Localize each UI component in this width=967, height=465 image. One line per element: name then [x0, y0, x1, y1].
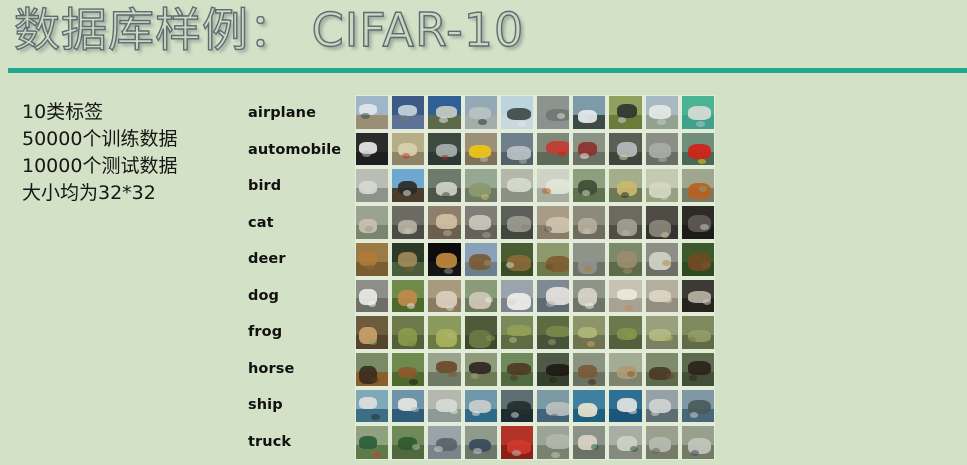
sample-thumbnail-truck-6 — [537, 426, 569, 459]
sample-thumbnail-truck-2 — [392, 426, 424, 459]
sample-thumbnail-airplane-10 — [682, 96, 714, 129]
thumb-detail-speck — [369, 339, 377, 345]
sample-thumbnail-deer-3 — [428, 243, 460, 276]
sample-thumbnail-automobile-3 — [428, 133, 460, 166]
sample-thumbnail-frog-9 — [646, 316, 678, 349]
dataset-info-block: 10类标签 50000个训练数据 10000个测试数据 大小均为32*32 — [22, 99, 232, 207]
thumb-detail-speck — [486, 335, 494, 341]
sample-thumbnail-truck-5 — [501, 426, 533, 459]
sample-thumbnail-ship-3 — [428, 390, 460, 423]
sample-thumbnail-bird-4 — [465, 169, 497, 202]
sample-thumbnail-dog-7 — [573, 280, 605, 313]
sample-thumbnail-dog-1 — [356, 280, 388, 313]
sample-thumbnail-bird-5 — [501, 169, 533, 202]
thumb-detail-speck — [591, 444, 599, 450]
thumb-subject-shape — [617, 289, 637, 300]
sample-thumbnail-horse-7 — [573, 353, 605, 386]
sample-thumbnail-cat-5 — [501, 206, 533, 239]
sample-thumbnail-bird-2 — [392, 169, 424, 202]
thumb-detail-speck — [521, 224, 529, 230]
thumb-detail-speck — [361, 113, 369, 119]
sample-thumbnail-frog-3 — [428, 316, 460, 349]
sample-thumbnail-dog-9 — [646, 280, 678, 313]
thumb-detail-speck — [443, 230, 451, 236]
thumb-subject-shape — [469, 215, 491, 230]
thumb-detail-speck — [373, 452, 381, 458]
class-label-frog: frog — [248, 314, 352, 351]
sample-thumbnail-airplane-8 — [609, 96, 641, 129]
sample-thumbnail-ship-7 — [573, 390, 605, 423]
class-label-deer: deer — [248, 241, 352, 278]
thumb-detail-speck — [402, 153, 410, 159]
sample-thumbnail-dog-4 — [465, 280, 497, 313]
sample-thumbnail-horse-10 — [682, 353, 714, 386]
class-label-ship: ship — [248, 387, 352, 424]
thumb-detail-speck — [509, 337, 517, 343]
sample-thumbnail-horse-8 — [609, 353, 641, 386]
thumb-subject-shape — [546, 326, 570, 337]
sample-thumbnail-ship-10 — [682, 390, 714, 423]
sample-thumbnail-cat-7 — [573, 206, 605, 239]
thumb-detail-speck — [582, 190, 590, 196]
sample-thumbnail-automobile-6 — [537, 133, 569, 166]
sample-thumbnail-ship-9 — [646, 390, 678, 423]
sample-thumbnail-automobile-9 — [646, 133, 678, 166]
thumb-detail-speck — [657, 119, 665, 125]
thumb-detail-speck — [370, 377, 378, 383]
class-label-cat: cat — [248, 205, 352, 242]
thumb-background-lower — [501, 335, 533, 349]
thumb-detail-speck — [478, 119, 486, 125]
sample-thumbnail-deer-10 — [682, 243, 714, 276]
thumb-detail-speck — [506, 262, 514, 268]
thumb-subject-shape — [359, 397, 376, 409]
class-label-column: airplane automobile bird cat deer dog fr… — [248, 95, 352, 460]
class-label-truck: truck — [248, 424, 352, 461]
thumb-subject-shape — [688, 106, 712, 120]
sample-thumbnail-cat-1 — [356, 206, 388, 239]
sample-thumbnail-bird-9 — [646, 169, 678, 202]
sample-thumbnail-frog-2 — [392, 316, 424, 349]
thumb-detail-speck — [625, 305, 633, 311]
sample-thumbnail-airplane-6 — [537, 96, 569, 129]
thumb-detail-speck — [512, 450, 520, 456]
sample-thumbnail-deer-9 — [646, 243, 678, 276]
thumb-detail-speck — [557, 113, 565, 119]
sample-thumbnail-cat-9 — [646, 206, 678, 239]
sample-thumbnail-horse-3 — [428, 353, 460, 386]
thumb-detail-speck — [471, 373, 479, 379]
class-label-dog: dog — [248, 278, 352, 315]
sample-thumbnail-automobile-1 — [356, 133, 388, 166]
sample-thumbnail-frog-7 — [573, 316, 605, 349]
thumb-subject-shape — [507, 325, 531, 336]
sample-thumbnail-frog-5 — [501, 316, 533, 349]
sample-thumbnail-airplane-5 — [501, 96, 533, 129]
thumb-subject-shape — [398, 252, 417, 267]
thumb-detail-speck — [661, 232, 669, 238]
thumb-detail-speck — [558, 151, 566, 157]
sample-thumbnail-bird-3 — [428, 169, 460, 202]
info-line-test-count: 10000个测试数据 — [22, 153, 232, 180]
class-label-automobile: automobile — [248, 132, 352, 169]
sample-thumbnail-airplane-1 — [356, 96, 388, 129]
sample-thumbnail-deer-2 — [392, 243, 424, 276]
sample-thumbnail-truck-8 — [609, 426, 641, 459]
thumb-detail-speck — [473, 448, 481, 454]
sample-thumbnail-airplane-2 — [392, 96, 424, 129]
thumb-background-lower — [465, 372, 497, 386]
thumb-detail-speck — [448, 371, 456, 377]
thumb-detail-speck — [696, 121, 704, 127]
slide-header: 数据库样例： CIFAR-10 — [0, 0, 967, 76]
sample-thumbnail-bird-8 — [609, 169, 641, 202]
thumb-detail-speck — [549, 377, 557, 383]
sample-thumbnail-cat-2 — [392, 206, 424, 239]
sample-thumbnail-frog-8 — [609, 316, 641, 349]
sample-thumbnail-truck-9 — [646, 426, 678, 459]
sample-thumbnail-frog-1 — [356, 316, 388, 349]
thumb-detail-speck — [366, 264, 374, 270]
thumb-subject-shape — [617, 251, 637, 268]
thumb-subject-shape — [688, 361, 712, 375]
sample-thumbnail-frog-4 — [465, 316, 497, 349]
thumb-detail-speck — [627, 371, 635, 377]
thumb-subject-shape — [507, 108, 531, 120]
thumb-subject-shape — [546, 434, 570, 448]
class-label-bird: bird — [248, 168, 352, 205]
sample-thumbnail-ship-4 — [465, 390, 497, 423]
sample-thumbnail-cat-8 — [609, 206, 641, 239]
info-line-train-count: 50000个训练数据 — [22, 126, 232, 153]
sample-thumbnail-horse-1 — [356, 353, 388, 386]
thumb-detail-speck — [701, 262, 709, 268]
sample-thumbnail-deer-1 — [356, 243, 388, 276]
thumb-subject-shape — [436, 106, 457, 118]
thumb-detail-speck — [484, 260, 492, 266]
sample-thumbnail-truck-10 — [682, 426, 714, 459]
sample-thumbnail-truck-1 — [356, 426, 388, 459]
thumb-subject-shape — [546, 364, 570, 376]
sample-thumbnail-bird-6 — [537, 169, 569, 202]
thumb-detail-speck — [405, 266, 413, 272]
thumb-subject-shape — [436, 253, 457, 269]
sample-thumbnail-ship-2 — [392, 390, 424, 423]
thumb-detail-speck — [444, 268, 452, 274]
sample-thumbnail-ship-6 — [537, 390, 569, 423]
sample-thumbnail-dog-6 — [537, 280, 569, 313]
thumb-subject-shape — [469, 145, 491, 158]
thumb-subject-shape — [617, 104, 637, 117]
sample-thumbnail-frog-6 — [537, 316, 569, 349]
sample-thumbnail-deer-7 — [573, 243, 605, 276]
thumb-detail-speck — [409, 379, 417, 385]
thumb-detail-speck — [689, 375, 697, 381]
cifar10-sample-grid — [355, 95, 715, 460]
thumb-detail-speck — [510, 375, 518, 381]
thumb-detail-speck — [700, 224, 708, 230]
sample-thumbnail-deer-8 — [609, 243, 641, 276]
thumb-subject-shape — [469, 107, 491, 119]
sample-thumbnail-bird-7 — [573, 169, 605, 202]
thumb-subject-shape — [649, 105, 671, 119]
sample-thumbnail-horse-4 — [465, 353, 497, 386]
thumb-detail-speck — [550, 414, 558, 420]
sample-thumbnail-automobile-7 — [573, 133, 605, 166]
thumb-detail-speck — [544, 226, 552, 232]
sample-thumbnail-horse-9 — [646, 353, 678, 386]
thumb-detail-speck — [584, 266, 592, 272]
sample-thumbnail-automobile-5 — [501, 133, 533, 166]
thumb-detail-speck — [588, 379, 596, 385]
thumb-background-lower — [392, 409, 424, 423]
thumb-detail-speck — [589, 407, 597, 413]
sample-thumbnail-cat-3 — [428, 206, 460, 239]
sample-thumbnail-horse-5 — [501, 353, 533, 386]
thumb-detail-speck — [587, 341, 595, 347]
thumb-subject-shape — [436, 214, 457, 229]
thumb-subject-shape — [469, 362, 491, 374]
page-title: 数据库样例： CIFAR-10 — [14, 2, 524, 58]
thumb-detail-speck — [628, 409, 636, 415]
thumb-detail-speck — [666, 373, 674, 379]
sample-thumbnail-automobile-8 — [609, 133, 641, 166]
sample-thumbnail-horse-2 — [392, 353, 424, 386]
info-line-image-size: 大小均为32*32 — [22, 180, 232, 207]
info-line-label-count: 10类标签 — [22, 99, 232, 126]
thumb-detail-speck — [518, 121, 526, 127]
class-label-airplane: airplane — [248, 95, 352, 132]
thumb-detail-speck — [482, 232, 490, 238]
thumb-detail-speck — [618, 117, 626, 123]
thumb-subject-shape — [398, 367, 417, 378]
sample-thumbnail-dog-10 — [682, 280, 714, 313]
sample-thumbnail-truck-4 — [465, 426, 497, 459]
sample-thumbnail-truck-7 — [573, 426, 605, 459]
thumb-detail-speck — [551, 452, 559, 458]
sample-thumbnail-automobile-2 — [392, 133, 424, 166]
title-divider-rule — [8, 68, 967, 73]
sample-thumbnail-airplane-7 — [573, 96, 605, 129]
sample-thumbnail-truck-3 — [428, 426, 460, 459]
thumb-detail-speck — [434, 446, 442, 452]
sample-thumbnail-airplane-3 — [428, 96, 460, 129]
thumb-detail-speck — [400, 115, 408, 121]
thumb-detail-speck — [630, 446, 638, 452]
thumb-subject-shape — [578, 327, 597, 339]
sample-thumbnail-cat-10 — [682, 206, 714, 239]
thumb-subject-shape — [649, 143, 671, 158]
sample-thumbnail-dog-3 — [428, 280, 460, 313]
sample-thumbnail-frog-10 — [682, 316, 714, 349]
thumb-detail-speck — [623, 268, 631, 274]
thumb-detail-speck — [545, 264, 553, 270]
thumb-subject-shape — [507, 146, 531, 159]
sample-thumbnail-horse-6 — [537, 353, 569, 386]
thumb-detail-speck — [548, 339, 556, 345]
sample-thumbnail-airplane-4 — [465, 96, 497, 129]
sample-thumbnail-ship-8 — [609, 390, 641, 423]
thumb-detail-speck — [580, 153, 588, 159]
thumb-detail-speck — [362, 151, 370, 157]
sample-thumbnail-dog-8 — [609, 280, 641, 313]
sample-thumbnail-cat-4 — [465, 206, 497, 239]
sample-thumbnail-automobile-10 — [682, 133, 714, 166]
sample-thumbnail-ship-5 — [501, 390, 533, 423]
thumb-detail-speck — [662, 260, 670, 266]
sample-thumbnail-dog-2 — [392, 280, 424, 313]
sample-thumbnail-deer-6 — [537, 243, 569, 276]
thumb-detail-speck — [687, 337, 695, 343]
sample-thumbnail-automobile-4 — [465, 133, 497, 166]
sample-thumbnail-bird-1 — [356, 169, 388, 202]
sample-thumbnail-airplane-9 — [646, 96, 678, 129]
sample-thumbnail-bird-10 — [682, 169, 714, 202]
thumb-detail-speck — [622, 230, 630, 236]
sample-thumbnail-cat-6 — [537, 206, 569, 239]
sample-thumbnail-dog-5 — [501, 280, 533, 313]
sample-thumbnail-deer-4 — [465, 243, 497, 276]
sample-thumbnail-ship-1 — [356, 390, 388, 423]
thumb-subject-shape — [359, 436, 376, 449]
thumb-subject-shape — [507, 363, 531, 375]
thumb-detail-speck — [439, 117, 447, 123]
sample-thumbnail-deer-5 — [501, 243, 533, 276]
thumb-detail-speck — [579, 115, 587, 121]
thumb-detail-speck — [583, 228, 591, 234]
thumb-subject-shape — [688, 144, 712, 159]
thumb-subject-shape — [578, 365, 597, 378]
class-label-horse: horse — [248, 351, 352, 388]
